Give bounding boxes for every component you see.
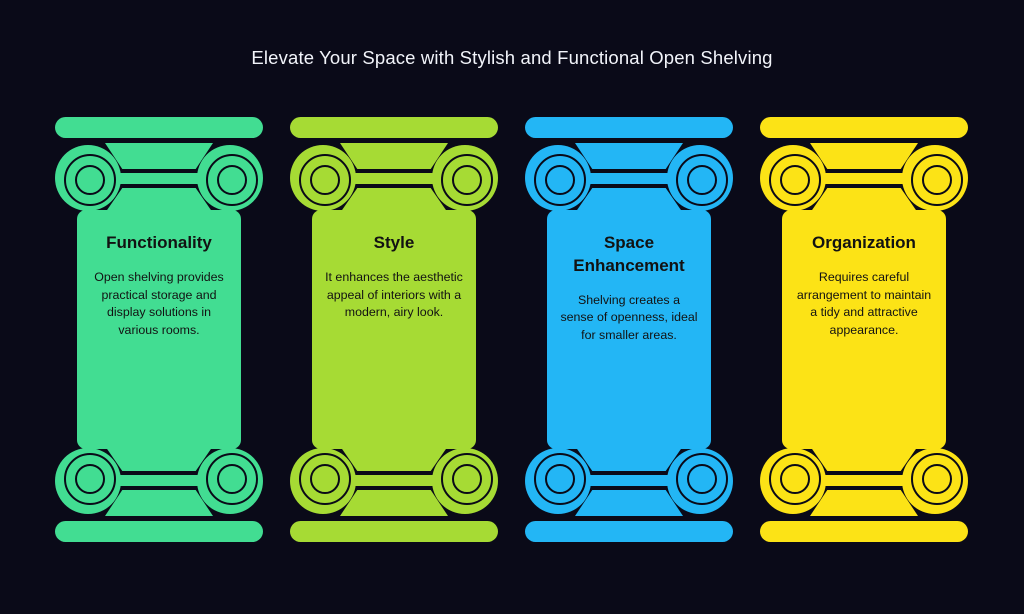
base-echinus-bottom xyxy=(340,446,448,471)
capital-volute-right-icon xyxy=(432,145,498,211)
column-abacus-top xyxy=(55,117,263,138)
card-description: Shelving creates a sense of openness, id… xyxy=(560,292,698,345)
capital-volute-right-icon xyxy=(902,145,968,211)
capital-echinus-top xyxy=(340,143,448,169)
base-echinus-bottom xyxy=(810,446,918,471)
capital-echinus-band xyxy=(113,173,205,184)
card-description: Open shelving provides practical storage… xyxy=(90,269,228,339)
column-abacus-bottom xyxy=(525,521,733,542)
capital-echinus-band xyxy=(348,173,440,184)
capital-volute-left-icon xyxy=(525,145,591,211)
base-volute-left-icon xyxy=(55,448,121,514)
card-description: Requires careful arrangement to maintain… xyxy=(795,269,933,339)
card-description: It enhances the aesthetic appeal of inte… xyxy=(325,269,463,322)
column-abacus-bottom xyxy=(290,521,498,542)
column-shaft[interactable]: Organization Requires careful arrangemen… xyxy=(782,210,946,449)
capital-volute-left-icon xyxy=(760,145,826,211)
infographic-canvas: Elevate Your Space with Stylish and Func… xyxy=(0,0,1024,614)
base-volute-right-icon xyxy=(197,448,263,514)
column-capital xyxy=(525,143,733,213)
column-shaft[interactable]: Functionality Open shelving provides pra… xyxy=(77,210,241,449)
column-base xyxy=(55,446,263,516)
base-volute-right-icon xyxy=(432,448,498,514)
capital-echinus-top xyxy=(810,143,918,169)
base-echinus-top xyxy=(340,490,448,516)
column-card[interactable]: Space Enhancement Shelving creates a sen… xyxy=(525,117,733,542)
capital-volute-left-icon xyxy=(55,145,121,211)
base-echinus-top xyxy=(810,490,918,516)
column-abacus-bottom xyxy=(760,521,968,542)
column-cards-row: Functionality Open shelving provides pra… xyxy=(55,117,970,542)
column-capital xyxy=(290,143,498,213)
column-abacus-top xyxy=(290,117,498,138)
column-card[interactable]: Style It enhances the aesthetic appeal o… xyxy=(290,117,498,542)
column-abacus-top xyxy=(760,117,968,138)
base-echinus-bottom xyxy=(575,446,683,471)
base-echinus-top xyxy=(575,490,683,516)
base-echinus-band xyxy=(348,475,440,486)
column-base xyxy=(760,446,968,516)
card-title: Organization xyxy=(795,232,933,255)
capital-echinus-band xyxy=(583,173,675,184)
column-base xyxy=(525,446,733,516)
base-volute-right-icon xyxy=(667,448,733,514)
base-echinus-band xyxy=(818,475,910,486)
base-echinus-band xyxy=(583,475,675,486)
base-volute-left-icon xyxy=(760,448,826,514)
capital-echinus-top xyxy=(105,143,213,169)
capital-volute-right-icon xyxy=(667,145,733,211)
base-volute-left-icon xyxy=(525,448,591,514)
card-title: Functionality xyxy=(90,232,228,255)
base-volute-left-icon xyxy=(290,448,356,514)
column-card[interactable]: Functionality Open shelving provides pra… xyxy=(55,117,263,542)
column-capital xyxy=(760,143,968,213)
column-card[interactable]: Organization Requires careful arrangemen… xyxy=(760,117,968,542)
capital-echinus-top xyxy=(575,143,683,169)
base-echinus-bottom xyxy=(105,446,213,471)
capital-echinus-band xyxy=(818,173,910,184)
page-title: Elevate Your Space with Stylish and Func… xyxy=(0,47,1024,69)
column-capital xyxy=(55,143,263,213)
capital-volute-right-icon xyxy=(197,145,263,211)
base-echinus-top xyxy=(105,490,213,516)
card-title: Style xyxy=(325,232,463,255)
capital-volute-left-icon xyxy=(290,145,356,211)
card-title: Space Enhancement xyxy=(560,232,698,278)
column-abacus-top xyxy=(525,117,733,138)
column-abacus-bottom xyxy=(55,521,263,542)
column-base xyxy=(290,446,498,516)
column-shaft[interactable]: Space Enhancement Shelving creates a sen… xyxy=(547,210,711,449)
base-echinus-band xyxy=(113,475,205,486)
base-volute-right-icon xyxy=(902,448,968,514)
column-shaft[interactable]: Style It enhances the aesthetic appeal o… xyxy=(312,210,476,449)
